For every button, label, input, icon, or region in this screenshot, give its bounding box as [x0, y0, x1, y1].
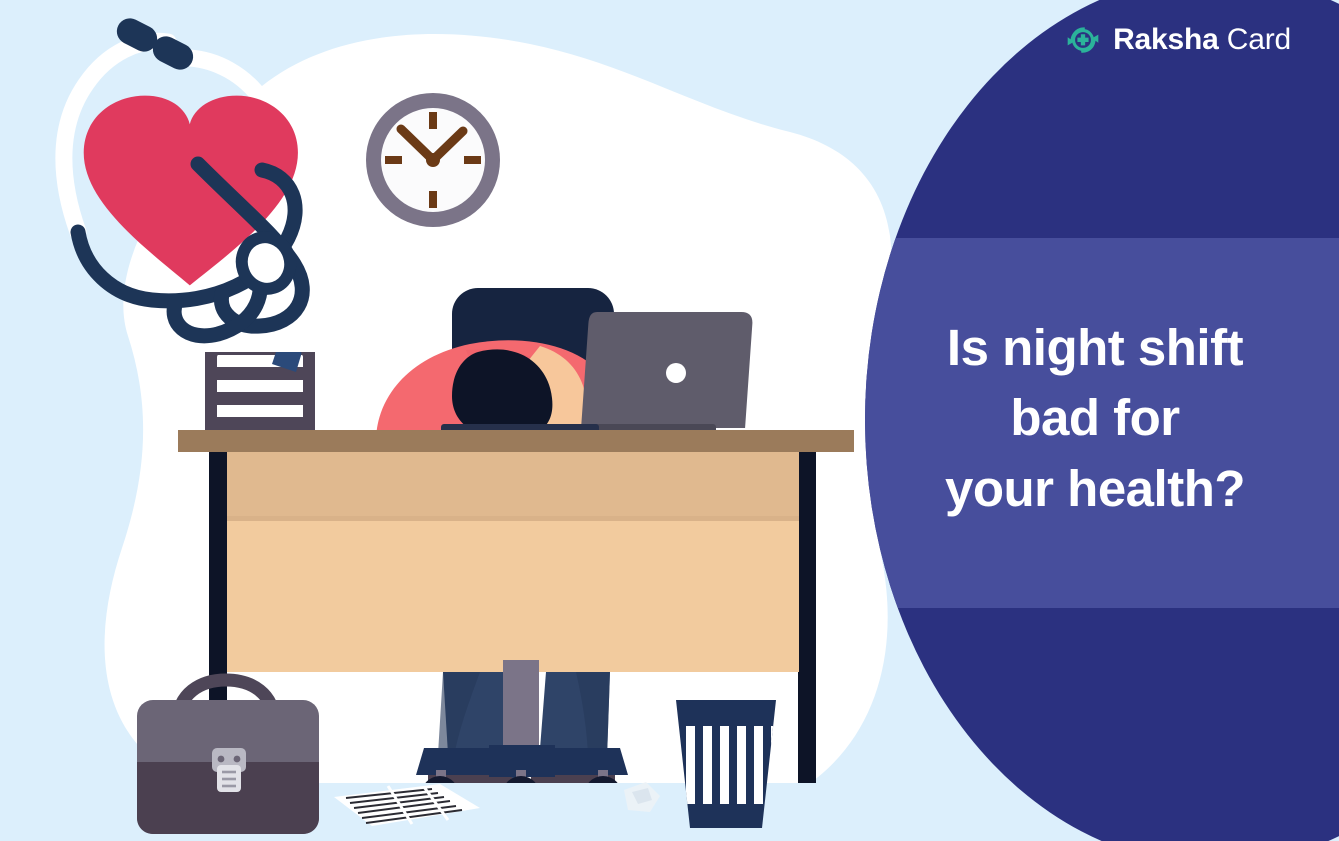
brand-name-bold: Raksha [1113, 23, 1219, 56]
headline-line-2: bad for [893, 383, 1297, 453]
brand-name-light: Card [1227, 23, 1291, 56]
headline-line-3: your health? [893, 454, 1297, 524]
briefcase-icon [137, 680, 319, 834]
headline: Is night shift bad for your health? [893, 313, 1297, 524]
laptop-logo [666, 363, 686, 383]
brand-logo[interactable]: Raksha Card [1065, 22, 1291, 58]
laptop-icon [581, 312, 753, 436]
brand-name: Raksha Card [1113, 25, 1291, 55]
document-tray-icon [205, 352, 315, 430]
wall-clock-icon [366, 93, 500, 227]
medical-cross-refresh-icon [1065, 22, 1101, 58]
promo-banner: Raksha Card Is night shift bad for your … [0, 0, 1339, 841]
headline-line-1: Is night shift [893, 313, 1297, 383]
